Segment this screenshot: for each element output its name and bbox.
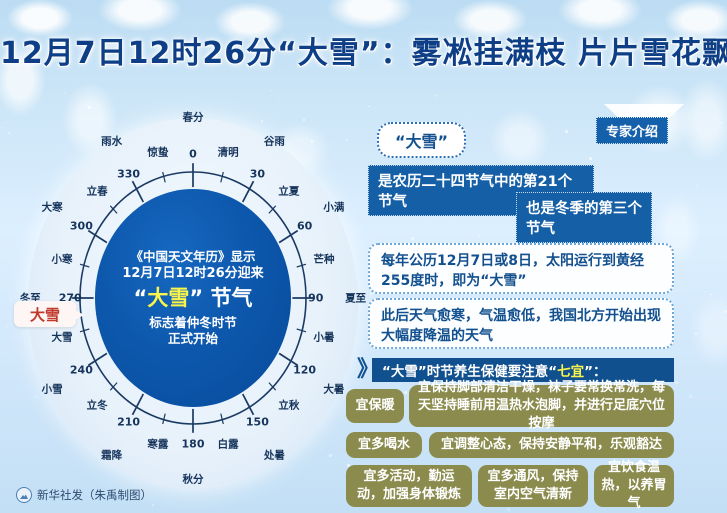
tip-label-drink-water: 宜多喝水 (346, 432, 422, 458)
solar-term-label-240: 小雪 (42, 381, 63, 396)
solar-term-label-30: 谷雨 (264, 133, 285, 148)
solar-term-degree-90: 90 (308, 292, 323, 305)
solar-term-degree-240: 240 (70, 363, 93, 376)
solar-term-label-195: 寒露 (147, 437, 168, 452)
info-box-weather: 此后天气愈寒，气温愈低，我国北方开始出现大幅度降温的天气 (368, 298, 674, 349)
expert-intro-tag: 专家介绍 (596, 117, 668, 144)
info-box-solar-longitude: 每年公历12月7日或8日，太阳运行到黄经255度时，即为“大雪” (368, 243, 674, 294)
tip-box-warm-food: 宜饮食温热，以养胃气 (594, 465, 674, 507)
xinhua-logo-icon (16, 487, 32, 503)
banner-suffix: ”： (584, 364, 606, 380)
solar-term-label-315: 立春 (87, 184, 108, 199)
banner-highlight: 七宜 (557, 364, 584, 380)
center-quote-open: “ (134, 286, 148, 310)
solar-term-label-165: 白露 (218, 437, 239, 452)
solar-term-wheel: 《中国天文年历》显示 12月7日12时26分迎来 “大雪” 节气 标志着仲冬时节… (57, 148, 329, 448)
solar-term-degree-30: 30 (250, 167, 265, 180)
solar-term-label-345: 惊蛰 (147, 145, 168, 160)
tip-box-exercise: 宜多活动，勤运动，加强身体锻炼 (346, 465, 472, 507)
solar-term-degree-120: 120 (293, 363, 316, 376)
center-quote-close: ” 节气 (189, 286, 252, 310)
solar-term-label-45: 立夏 (278, 184, 299, 199)
solar-term-label-15: 清明 (218, 145, 239, 160)
tip-text-keep-warm: 宜保持脚部清洁干燥，袜子要常换常洗，每天坚持睡前用温热水泡脚，并进行足底穴位按摩 (409, 385, 674, 427)
solar-term-label-120: 大暑 (323, 381, 344, 396)
center-line-4b: 正式开始 (168, 331, 218, 347)
solar-term-degree-180: 180 (182, 437, 205, 450)
credit-line: 新华社发（朱禹制图） (16, 487, 152, 503)
solar-term-label-135: 立秋 (278, 397, 299, 412)
solar-term-label-150: 处暑 (264, 448, 285, 463)
center-line-2: 12月7日12时26分迎来 (122, 265, 263, 282)
tip-label-keep-warm: 宜保暖 (346, 389, 404, 423)
daxue-pill-label: “大雪” (377, 122, 466, 158)
center-term-highlight: 大雪 (147, 286, 189, 310)
tip-box-ventilation: 宜多通风，保持室内空气清新 (478, 465, 588, 507)
infographic-root: 12月7日12时26分“大雪”：雾凇挂满枝 片片雪花飘 《中国天文年历》显示 1… (0, 0, 727, 513)
solar-term-label-60: 小满 (323, 200, 344, 215)
wheel-center-disc: 《中国天文年历》显示 12月7日12时26分迎来 “大雪” 节气 标志着仲冬时节… (95, 189, 291, 407)
solar-term-label-90: 夏至 (345, 291, 366, 306)
solar-term-label-180: 秋分 (183, 472, 204, 487)
health-banner-text: “大雪”时节养生保健要注意“七宜”： (372, 360, 607, 380)
solar-term-degree-150: 150 (246, 416, 269, 429)
solar-term-label-75: 芒种 (314, 251, 335, 266)
solar-term-label-300: 大寒 (42, 200, 63, 215)
credit-text: 新华社发（朱禹制图） (37, 487, 152, 503)
solar-term-label-210: 霜降 (101, 448, 122, 463)
solar-term-degree-60: 60 (297, 220, 312, 233)
center-headline: “大雪” 节气 (134, 283, 253, 313)
solar-term-degree-0: 0 (189, 148, 197, 161)
solar-term-label-285: 小寒 (52, 251, 73, 266)
solar-term-label-255: 大雪 (52, 330, 73, 345)
solar-term-degree-210: 210 (117, 416, 140, 429)
center-line-1: 《中国天文年历》显示 (130, 249, 255, 265)
page-title: 12月7日12时26分“大雪”：雾凇挂满枝 片片雪花飘 (0, 28, 727, 80)
tip-text-drink-water: 宜调整心态，保持安静平和，乐观豁达 (429, 432, 674, 458)
info-box-secondary: 也是冬季的第三个节气 (516, 192, 652, 243)
center-line-4a: 标志着仲冬时节 (149, 315, 237, 331)
solar-term-label-0: 春分 (183, 109, 204, 124)
solar-term-degree-330: 330 (117, 167, 140, 180)
daxue-callout-badge: 大雪 (14, 301, 76, 327)
solar-term-label-105: 小暑 (314, 330, 335, 345)
solar-term-label-225: 立冬 (87, 397, 108, 412)
solar-term-degree-300: 300 (70, 220, 93, 233)
solar-term-label-330: 雨水 (101, 133, 122, 148)
title-band: 12月7日12时26分“大雪”：雾凇挂满枝 片片雪花飘 (0, 28, 727, 80)
banner-prefix: “大雪”时节养生保健要注意“ (382, 364, 557, 380)
